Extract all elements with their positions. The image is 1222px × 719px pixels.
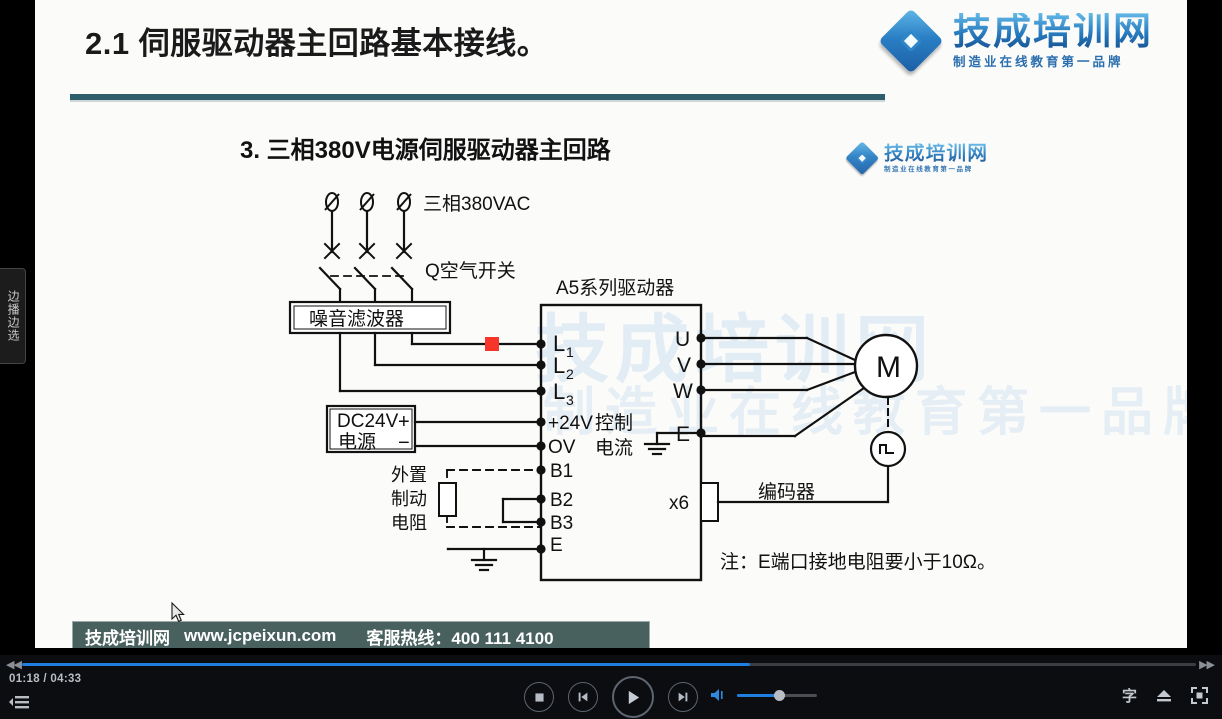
progress-row: ◀◀ ▶▶: [0, 655, 1222, 673]
player-controls-bar: ◀◀ ▶▶ 01:18 / 04:33: [0, 655, 1222, 719]
label-source: 三相380VAC: [423, 193, 530, 215]
terminal-W: W: [673, 380, 693, 403]
fullscreen-button[interactable]: [1191, 687, 1208, 704]
presentation-slide: 2.1 伺服驱动器主回路基本接线。 技成培训网 制造业在线教育第一品牌 3. 三…: [35, 0, 1187, 648]
play-icon: [625, 689, 642, 706]
stop-icon: [533, 691, 546, 704]
label-current: 电流: [595, 437, 633, 459]
terminal-E-left: E: [550, 535, 563, 556]
terminal-V: V: [677, 354, 691, 377]
rewind-icon[interactable]: ◀◀: [6, 658, 21, 671]
stop-button[interactable]: [524, 682, 554, 712]
terminal-L1-sub: 1: [566, 344, 574, 360]
video-player-window: 2.1 伺服驱动器主回路基本接线。 技成培训网 制造业在线教育第一品牌 3. 三…: [0, 0, 1222, 719]
banner-site: 技成培训网: [85, 624, 170, 649]
previous-track-button[interactable]: [568, 682, 598, 712]
encoder-label: 编码器: [758, 481, 815, 503]
label-breaker: Q空气开关: [425, 260, 516, 282]
right-controls: 字: [1122, 685, 1208, 706]
transport-controls: [0, 675, 1222, 719]
terminal-B2: B2: [550, 490, 573, 511]
mouse-cursor: [171, 602, 185, 623]
video-viewport[interactable]: 2.1 伺服驱动器主回路基本接线。 技成培训网 制造业在线教育第一品牌 3. 三…: [0, 0, 1222, 655]
terminal-L3-sub: 3: [566, 392, 574, 408]
brake-resistor-line1: 外置: [391, 465, 427, 485]
eject-button[interactable]: [1155, 688, 1173, 703]
terminal-L3: L: [553, 379, 565, 404]
brake-resistor-line2: 制动: [391, 489, 427, 509]
volume-slider[interactable]: [737, 694, 817, 697]
banner-hotline: 客服热线：400 111 4100: [366, 624, 553, 649]
footer-banner: 技成培训网 www.jcpeixun.com 客服热线：400 111 4100: [72, 621, 650, 648]
laser-pointer-marker: [485, 337, 499, 351]
fast-forward-icon[interactable]: ▶▶: [1199, 658, 1214, 671]
terminal-E-right: E: [676, 423, 690, 446]
psu-label-line2: 电源: [338, 431, 376, 453]
psu-plus: +: [398, 411, 410, 433]
terminal-B1: B1: [550, 461, 573, 482]
psu-minus: −: [398, 432, 410, 454]
fullscreen-icon: [1191, 687, 1208, 704]
label-control: 控制: [595, 412, 633, 434]
volume-slider-knob[interactable]: [774, 690, 785, 701]
terminal-0v: OV: [548, 437, 576, 458]
banner-url: www.jcpeixun.com: [184, 626, 336, 646]
label-drive: A5系列驱动器: [556, 277, 674, 299]
terminal-U: U: [675, 328, 690, 351]
eject-icon: [1155, 688, 1173, 703]
connector-x6: x6: [669, 493, 689, 514]
next-track-icon: [676, 690, 690, 704]
volume-slider-fill: [737, 694, 779, 697]
subtitle-button[interactable]: 字: [1122, 685, 1137, 706]
terminal-L2-sub: 2: [566, 366, 574, 382]
terminal-L2: L: [553, 353, 565, 378]
diagram-note: 注：E端口接地电阻要小于10Ω。: [720, 551, 996, 573]
seek-bar[interactable]: [22, 663, 1196, 666]
play-button[interactable]: [612, 676, 654, 718]
volume-icon[interactable]: [710, 687, 728, 703]
next-track-button[interactable]: [668, 682, 698, 712]
seek-bar-progress: [22, 663, 750, 666]
label-noise-filter: 噪音滤波器: [309, 308, 404, 330]
previous-track-icon: [576, 690, 590, 704]
volume-control[interactable]: [710, 687, 817, 703]
sidebar-toggle-label: 边播边选: [6, 290, 19, 342]
terminal-24v: +24V: [548, 413, 593, 434]
motor-label: M: [876, 351, 901, 384]
sidebar-toggle-playlist[interactable]: 边播边选: [0, 268, 26, 364]
psu-label-line1: DC24V: [337, 411, 399, 432]
terminal-B3: B3: [550, 513, 573, 534]
brake-resistor-line3: 电阻: [391, 513, 427, 533]
servo-drive-wiring-diagram: 三相380VAC Q空气开关 噪音滤波器 A5系列驱动器 L 1 L 2 L 3…: [35, 0, 1187, 648]
